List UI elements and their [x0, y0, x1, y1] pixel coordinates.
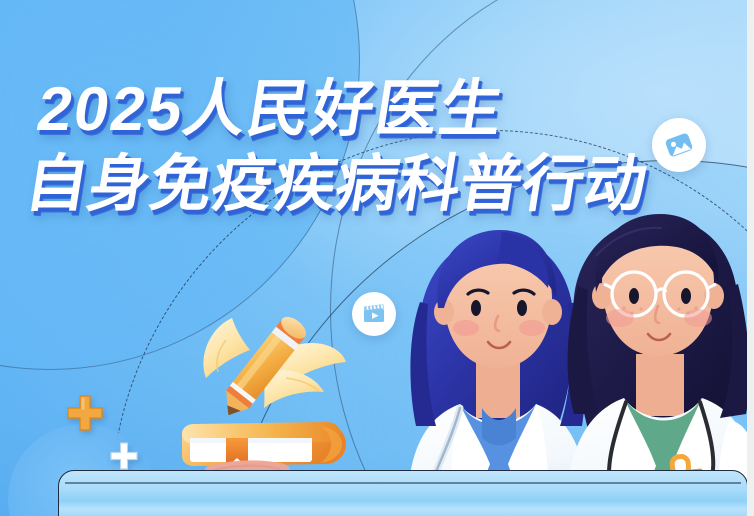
video-icon[interactable] [352, 292, 396, 336]
page-right-edge [747, 0, 754, 516]
photo-icon[interactable] [652, 118, 706, 172]
campaign-banner: 2025人民好医生 自身免疫疾病科普行动 [0, 0, 754, 516]
plus-orange-icon [64, 392, 106, 439]
desk [58, 470, 748, 516]
headline-line-2: 自身免疫疾病科普行动 [21, 153, 651, 216]
headline-block: 2025人民好医生 自身免疫疾病科普行动 [21, 78, 663, 216]
headline-line-1: 2025人民好医生 [33, 78, 663, 141]
